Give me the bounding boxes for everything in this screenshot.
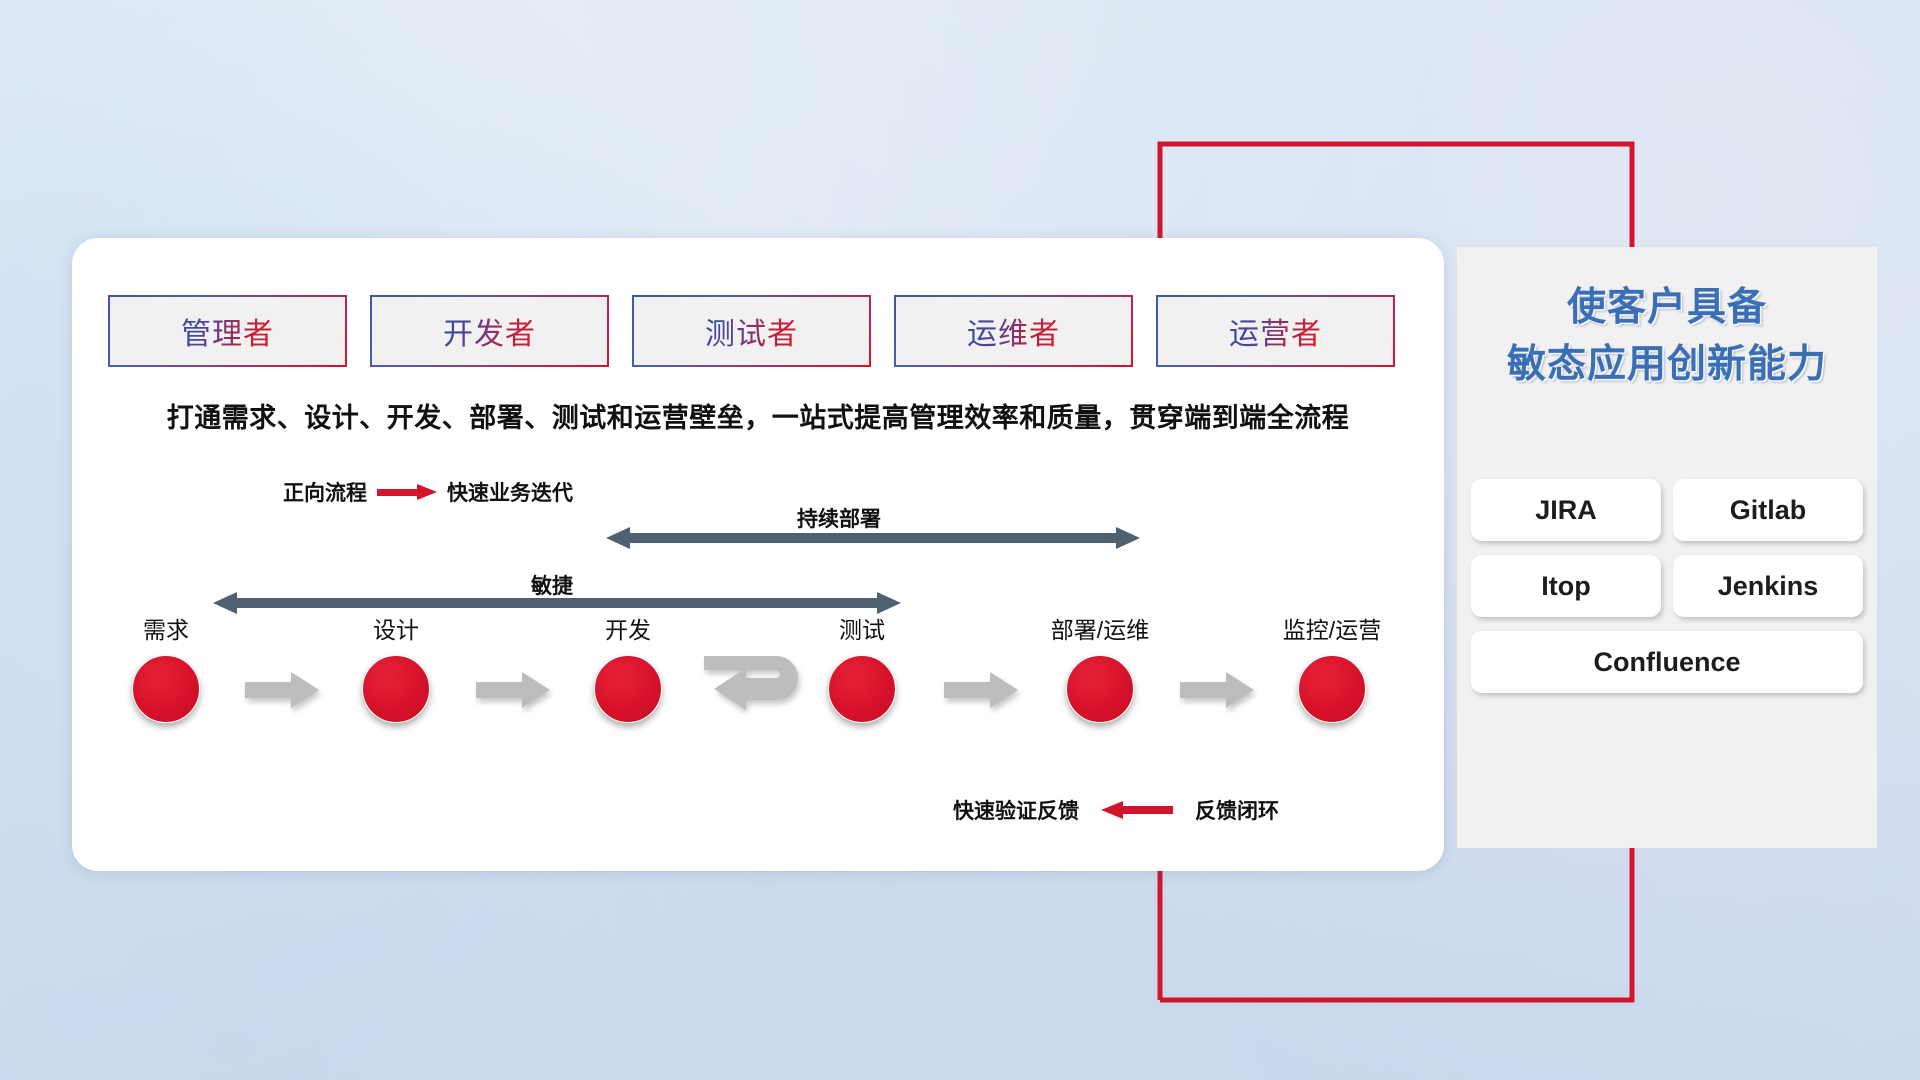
legend-feedback-right-label: 反馈闭环 (1195, 795, 1279, 825)
role-label: 测试者 (705, 309, 798, 353)
tool-button-gitlab[interactable]: Gitlab (1673, 479, 1863, 541)
pipeline-node-label: 开发 (605, 611, 651, 645)
block-arrow-right-icon (476, 670, 550, 710)
role-label: 运维者 (967, 309, 1060, 353)
block-arrow-right-icon (245, 670, 319, 710)
value-proposition-title-line1: 使客户具备 (1457, 280, 1877, 337)
role-box-manager[interactable]: 管理者 (110, 297, 345, 365)
role-label: 管理者 (181, 309, 274, 353)
pipeline-node-dot (594, 655, 662, 723)
role-label: 运营者 (1229, 309, 1322, 353)
value-proposition-panel: 使客户具备 敏态应用创新能力 JIRA Gitlab Itop Jenkins … (1457, 247, 1877, 848)
block-arrow-right-icon (944, 670, 1018, 710)
arrow-left-red-icon (1101, 801, 1173, 819)
role-box-developer[interactable]: 开发者 (372, 297, 607, 365)
tool-button-confluence[interactable]: Confluence (1471, 631, 1863, 693)
pipeline-node-label: 监控/运营 (1283, 611, 1381, 645)
legend-feedback-loop: 快速验证反馈 反馈闭环 (953, 795, 1279, 825)
pipeline-node-design[interactable]: 设计 (362, 655, 430, 723)
pipeline-node-dot (1066, 655, 1134, 723)
slide-canvas: 管理者 开发者 测试者 运维者 运营者 打通需求、设计、开发、部署、测试和运营壁… (0, 0, 1920, 1080)
pipeline-node-testing[interactable]: 测试 (828, 655, 896, 723)
tool-button-jenkins[interactable]: Jenkins (1673, 555, 1863, 617)
tool-button-itop[interactable]: Itop (1471, 555, 1661, 617)
pipeline-node-monitor-operations[interactable]: 监控/运营 (1298, 655, 1366, 723)
pipeline-node-label: 设计 (373, 611, 419, 645)
pipeline-node-dot (1298, 655, 1366, 723)
pipeline-node-deploy-ops[interactable]: 部署/运维 (1066, 655, 1134, 723)
role-box-tester[interactable]: 测试者 (634, 297, 869, 365)
pipeline-node-label: 需求 (143, 611, 189, 645)
value-proposition-title: 使客户具备 敏态应用创新能力 (1457, 280, 1877, 393)
tool-button-jira[interactable]: JIRA (1471, 479, 1661, 541)
tool-button-grid: JIRA Gitlab Itop Jenkins Confluence (1471, 479, 1863, 693)
iteration-loop-arrow-icon (700, 650, 816, 724)
pipeline-node-development[interactable]: 开发 (594, 655, 662, 723)
role-box-operations[interactable]: 运营者 (1158, 297, 1393, 365)
pipeline-node-dot (132, 655, 200, 723)
role-box-ops[interactable]: 运维者 (896, 297, 1131, 365)
role-label: 开发者 (443, 309, 536, 353)
role-box-row: 管理者 开发者 测试者 运维者 运营者 (110, 297, 1393, 365)
value-proposition-title-line2: 敏态应用创新能力 (1457, 337, 1877, 394)
pipeline-node-label: 测试 (839, 611, 885, 645)
pipeline-node-dot (362, 655, 430, 723)
legend-feedback-left-label: 快速验证反馈 (953, 795, 1079, 825)
pipeline-node-requirements[interactable]: 需求 (132, 655, 200, 723)
pipeline-node-label: 部署/运维 (1051, 611, 1149, 645)
block-arrow-right-icon (1180, 670, 1254, 710)
pipeline-node-dot (828, 655, 896, 723)
